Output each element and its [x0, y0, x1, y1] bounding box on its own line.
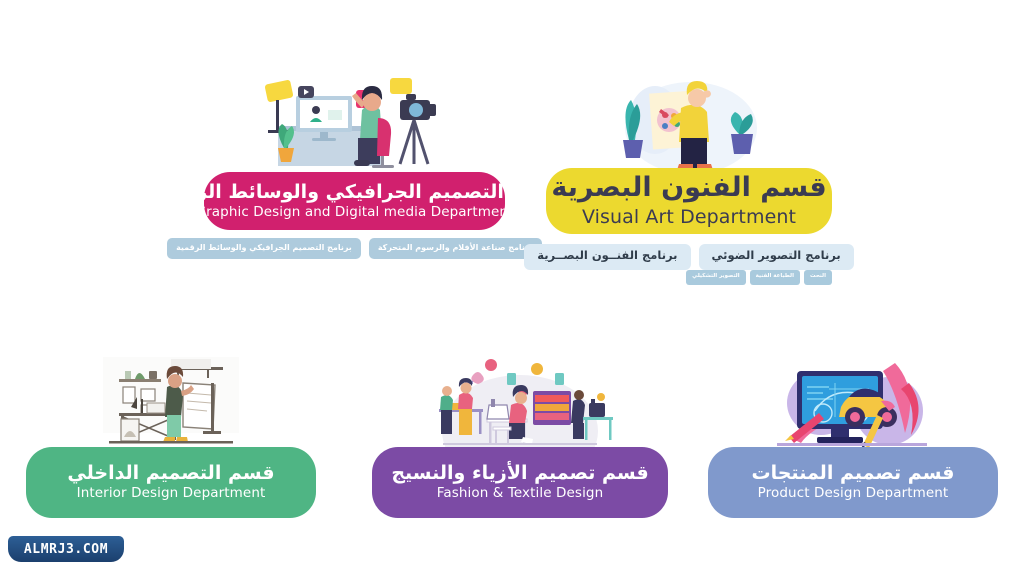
program-badges-visual-art: برنامج الفنــون البصــرية برنامج التصوير… — [546, 244, 832, 270]
program-badge[interactable]: برنامج التصميم الجرافيكي والوسائط الرقمي… — [167, 238, 361, 259]
program-badge[interactable]: برنامج صناعة الأفلام والرسوم المتحركة — [369, 238, 542, 259]
department-name-en: Product Design Department — [758, 485, 949, 503]
department-card-interior-design[interactable]: قسم التصميم الداخلي Interior Design Depa… — [26, 447, 316, 518]
department-name-en: Visual Art Department — [582, 205, 796, 230]
department-name-ar: قسم التصميم الجرافيكي والوسائط الرقمية — [152, 181, 557, 204]
program-badge[interactable]: برنامج التصوير الضوئي — [699, 244, 854, 270]
department-name-ar: قسم تصميم المنتجات — [752, 462, 955, 485]
department-pill-visual-art[interactable]: قسم الفنون البصرية Visual Art Department — [546, 168, 832, 234]
department-name-ar: قسم الفنون البصرية — [551, 172, 826, 205]
department-card-fashion-textile[interactable]: قسم تصميم الأزياء والنسيج Fashion & Text… — [372, 447, 668, 518]
watermark: ALMRJ3.COM — [8, 536, 124, 562]
watermark-text: ALMRJ3.COM — [8, 536, 124, 562]
department-pill-product-design[interactable]: قسم تصميم المنتجات Product Design Depart… — [708, 447, 998, 518]
video-studio-illustration — [204, 70, 505, 182]
department-name-en: Fashion & Textile Design — [437, 485, 603, 503]
subprogram-badge[interactable]: الطباعة الفنية — [750, 270, 800, 285]
program-badges-graphic-design: برنامج التصميم الجرافيكي والوسائط الرقمي… — [204, 238, 505, 259]
subprogram-badges-visual-art: التصوير التشكيلي الطباعة الفنية النحت — [686, 270, 832, 285]
drafting-table-illustration — [26, 351, 316, 453]
department-card-graphic-design[interactable]: قسم التصميم الجرافيكي والوسائط الرقمية G… — [204, 172, 505, 230]
department-name-en: Graphic Design and Digital media Departm… — [196, 204, 514, 222]
departments-diagram: قسم التصميم الجرافيكي والوسائط الرقمية G… — [0, 0, 1024, 570]
department-pill-graphic-design[interactable]: قسم التصميم الجرافيكي والوسائط الرقمية G… — [204, 172, 505, 230]
subprogram-badge[interactable]: التصوير التشكيلي — [686, 270, 746, 285]
painter-illustration — [546, 68, 832, 178]
department-pill-interior-design[interactable]: قسم التصميم الداخلي Interior Design Depa… — [26, 447, 316, 518]
department-name-ar: قسم تصميم الأزياء والنسيج — [391, 462, 648, 485]
department-pill-fashion-textile[interactable]: قسم تصميم الأزياء والنسيج Fashion & Text… — [372, 447, 668, 518]
car-cad-illustration — [708, 351, 998, 453]
department-name-en: Interior Design Department — [77, 485, 266, 503]
textile-workshop-illustration — [372, 351, 668, 453]
department-name-ar: قسم التصميم الداخلي — [67, 462, 274, 485]
department-card-product-design[interactable]: قسم تصميم المنتجات Product Design Depart… — [708, 447, 998, 518]
program-badge[interactable]: برنامج الفنــون البصــرية — [524, 244, 690, 270]
department-card-visual-art[interactable]: قسم الفنون البصرية Visual Art Department… — [546, 168, 832, 234]
subprogram-badge[interactable]: النحت — [804, 270, 832, 285]
